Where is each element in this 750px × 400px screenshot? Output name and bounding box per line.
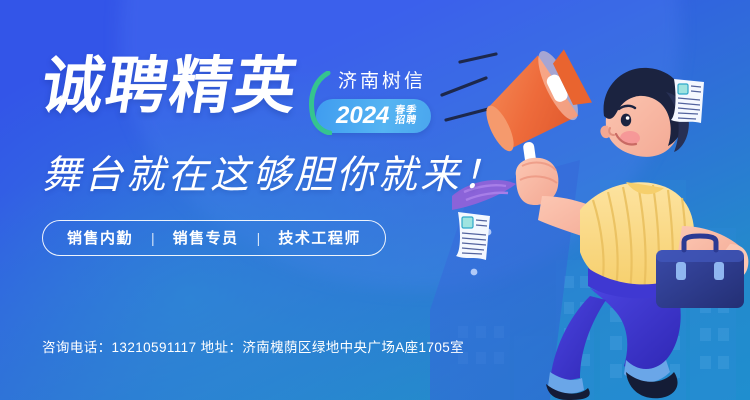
contact-info: 咨询电话：13210591117 地址：济南槐荫区绿地中央广场A座1705室: [42, 336, 464, 356]
recruitment-banner: 诚聘精英 济南树信 2024 春季 招聘 舞台就在这够胆你: [0, 0, 750, 400]
job-categories-pill: 销售内勤 | 销售专员 | 技术工程师: [42, 220, 386, 256]
job-separator: |: [151, 230, 155, 246]
badge-year: 2024: [336, 104, 389, 128]
badge-cluster: 济南树信 2024 春季 招聘: [316, 56, 431, 133]
badge-subtitle: 春季 招聘: [395, 106, 417, 127]
banner-content: 诚聘精英 济南树信 2024 春季 招聘 舞台就在这够胆你: [42, 56, 562, 256]
job-category-3: 技术工程师: [278, 227, 361, 248]
tagline: 舞台就在这够胆你就来！: [42, 155, 562, 198]
badge-subtitle-line2: 招聘: [395, 116, 418, 127]
resume-doc-icon: [668, 75, 710, 127]
page-title: 诚聘精英: [37, 56, 303, 118]
job-category-1: 销售内勤: [67, 227, 133, 248]
company-name: 济南树信: [316, 66, 431, 93]
job-separator: |: [257, 230, 261, 246]
headline-row: 诚聘精英 济南树信 2024 春季 招聘: [42, 56, 562, 133]
season-badge: 2024 春季 招聘: [316, 99, 431, 133]
job-category-2: 销售专员: [173, 227, 239, 248]
